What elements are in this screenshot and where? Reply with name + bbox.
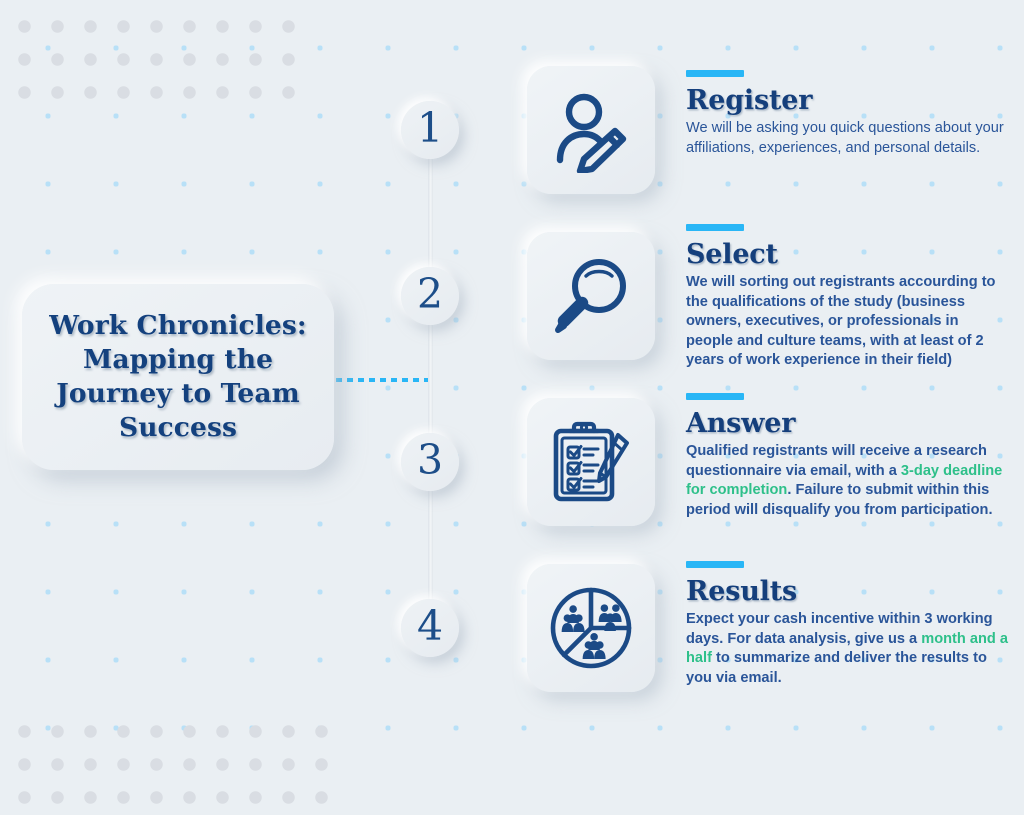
accent-bar-1 (686, 70, 744, 77)
body-text-run: to summarize and deliver the results to … (686, 650, 987, 686)
step-number-3: 3 (401, 433, 459, 491)
step-heading-1: Register (686, 86, 1008, 115)
step-heading-2: Select (686, 240, 1008, 269)
step-text-register: Register We will be asking you quick que… (686, 70, 1008, 158)
person-with-pencil-icon (548, 87, 634, 173)
step-number-1: 1 (401, 101, 459, 159)
page-title: Work Chronicles: Mapping the Journey to … (35, 309, 321, 445)
icon-card-results (527, 564, 655, 692)
step-number-3-label: 3 (417, 440, 443, 484)
icon-card-register (527, 66, 655, 194)
step-text-answer: Answer Qualified registrants will receiv… (686, 393, 1008, 520)
accent-bar-4 (686, 561, 744, 568)
step-body-2: We will sorting out registrants accourdi… (686, 273, 1008, 371)
step-number-2: 2 (401, 267, 459, 325)
icon-card-answer (527, 398, 655, 526)
title-card: Work Chronicles: Mapping the Journey to … (22, 284, 334, 470)
pie-chart-people-icon (547, 584, 635, 672)
corner-dots-top-left (8, 10, 308, 110)
timeline-track (428, 132, 433, 628)
magnifying-glass-icon (548, 253, 634, 339)
accent-bar-2 (686, 224, 744, 231)
step-number-2-label: 2 (417, 274, 443, 318)
corner-dots-bottom-left (8, 715, 338, 815)
step-text-select: Select We will sorting out registrants a… (686, 224, 1008, 371)
step-number-1-label: 1 (417, 108, 443, 152)
body-text-run: We will sorting out registrants accourdi… (686, 274, 995, 368)
step-heading-3: Answer (686, 409, 1008, 438)
step-heading-4: Results (686, 577, 1008, 606)
icon-card-select (527, 232, 655, 360)
body-text-run: We will be asking you quick questions ab… (686, 120, 1004, 156)
clipboard-checklist-pencil-icon (548, 419, 634, 505)
accent-bar-3 (686, 393, 744, 400)
step-body-4: Expect your cash incentive within 3 work… (686, 610, 1008, 688)
step-body-1: We will be asking you quick questions ab… (686, 119, 1008, 158)
step-body-3: Qualified registrants will receive a res… (686, 442, 1008, 520)
step-text-results: Results Expect your cash incentive withi… (686, 561, 1008, 688)
title-dashed-connector (336, 378, 428, 382)
step-number-4-label: 4 (417, 606, 443, 650)
step-number-4: 4 (401, 599, 459, 657)
